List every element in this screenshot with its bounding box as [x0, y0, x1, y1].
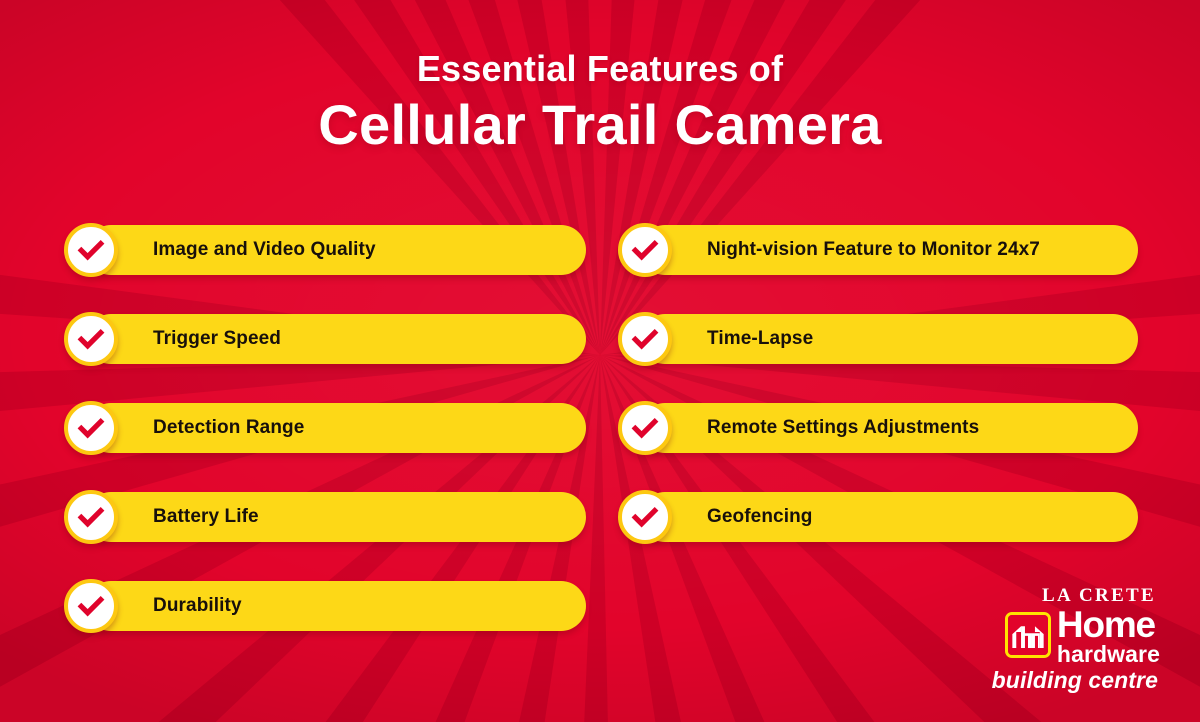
feature-pill: Detection Range — [86, 403, 586, 453]
feature-item[interactable]: Trigger Speed — [64, 312, 586, 366]
check-icon — [64, 490, 118, 544]
feature-label: Battery Life — [153, 506, 259, 528]
feature-item[interactable]: Image and Video Quality — [64, 223, 586, 277]
feature-item[interactable]: Battery Life — [64, 490, 586, 544]
feature-item[interactable]: Durability — [64, 579, 586, 633]
logo-brand-name: Home — [1057, 609, 1160, 642]
feature-pill: Trigger Speed — [86, 314, 586, 364]
logo-main-row: Home hardware — [970, 609, 1160, 666]
feature-pill: Time-Lapse — [640, 314, 1138, 364]
check-icon — [618, 312, 672, 366]
check-icon — [64, 401, 118, 455]
logo-brand-subtitle: hardware — [1057, 643, 1160, 666]
feature-label: Time-Lapse — [707, 328, 813, 350]
feature-item[interactable]: Detection Range — [64, 401, 586, 455]
logo-wordmark: Home hardware — [1057, 609, 1160, 666]
title-line-1: Essential Features of — [0, 50, 1200, 89]
feature-pill: Geofencing — [640, 492, 1138, 542]
feature-label: Trigger Speed — [153, 328, 281, 350]
logo-location-name: LA CRETE — [970, 586, 1160, 605]
feature-label: Durability — [153, 595, 242, 617]
feature-label: Remote Settings Adjustments — [707, 417, 979, 439]
feature-label: Geofencing — [707, 506, 813, 528]
check-icon — [64, 312, 118, 366]
logo-tagline: building centre — [970, 669, 1160, 692]
brand-logo[interactable]: LA CRETE Home hardware building centre — [970, 586, 1160, 692]
feature-pill: Remote Settings Adjustments — [640, 403, 1138, 453]
feature-column-left: Image and Video Quality Trigger Speed — [64, 223, 586, 633]
feature-item[interactable]: Remote Settings Adjustments — [618, 401, 1138, 455]
check-icon — [64, 223, 118, 277]
feature-item[interactable]: Geofencing — [618, 490, 1138, 544]
title-line-2: Cellular Trail Camera — [0, 89, 1200, 161]
feature-pill: Night-vision Feature to Monitor 24x7 — [640, 225, 1138, 275]
feature-label: Image and Video Quality — [153, 239, 376, 261]
check-icon — [618, 490, 672, 544]
home-hardware-hh-monogram-icon — [1005, 612, 1051, 658]
feature-column-right: Night-vision Feature to Monitor 24x7 Tim… — [618, 223, 1138, 544]
feature-pill: Battery Life — [86, 492, 586, 542]
feature-label: Night-vision Feature to Monitor 24x7 — [707, 239, 1040, 261]
check-icon — [618, 401, 672, 455]
feature-label: Detection Range — [153, 417, 304, 439]
infographic-canvas: Essential Features of Cellular Trail Cam… — [0, 0, 1200, 722]
page-title: Essential Features of Cellular Trail Cam… — [0, 50, 1200, 161]
feature-pill: Durability — [86, 581, 586, 631]
feature-item[interactable]: Night-vision Feature to Monitor 24x7 — [618, 223, 1138, 277]
feature-pill: Image and Video Quality — [86, 225, 586, 275]
check-icon — [618, 223, 672, 277]
check-icon — [64, 579, 118, 633]
feature-item[interactable]: Time-Lapse — [618, 312, 1138, 366]
